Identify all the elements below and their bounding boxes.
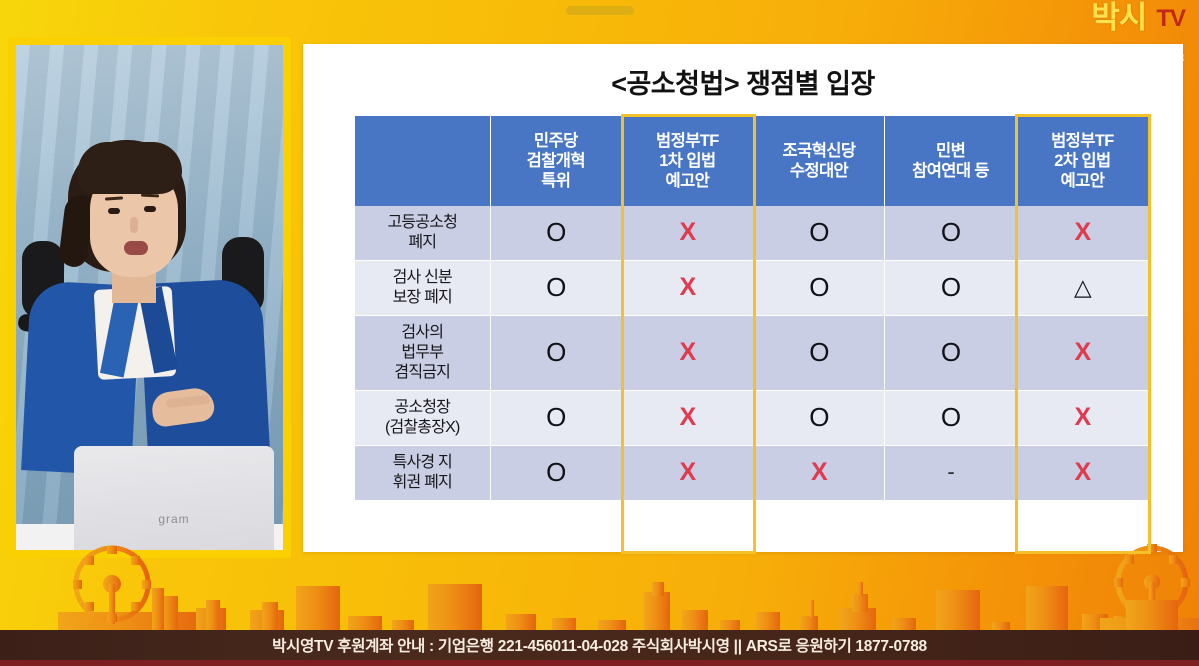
mark-cross-icon: X bbox=[679, 405, 695, 430]
mark-circle-icon: O bbox=[546, 404, 565, 430]
logo-tv-text: TV bbox=[1156, 7, 1185, 31]
table-cell: O bbox=[885, 261, 1017, 316]
video-feed: gram bbox=[16, 45, 283, 550]
table-cell: X bbox=[622, 391, 754, 446]
slide-panel: <공소청법> 쟁점별 입장 민주당검찰개혁특위 범정부TF1차 입법예고안 조국… bbox=[303, 44, 1183, 552]
mark-circle-icon: O bbox=[809, 274, 828, 300]
speaker-mouth bbox=[124, 241, 148, 255]
mark-cross-icon: X bbox=[1075, 405, 1091, 430]
table-row-label: 특사경 지 휘권 폐지 bbox=[355, 446, 490, 501]
table-row-label: 고등공소청 폐지 bbox=[355, 206, 490, 261]
table-row: 고등공소청 폐지OXOOX bbox=[355, 206, 1148, 261]
mark-cross-icon: X bbox=[679, 340, 695, 365]
table-cell: X bbox=[622, 261, 754, 316]
video-frame: gram bbox=[8, 37, 291, 558]
table-header-cell-3: 조국혁신당수정대안 bbox=[753, 116, 885, 206]
table-cell: O bbox=[753, 391, 885, 446]
table-row-label: 검사 신분 보장 폐지 bbox=[355, 261, 490, 316]
mark-cross-icon: X bbox=[1075, 340, 1091, 365]
table-body: 고등공소청 폐지OXOOX검사 신분 보장 폐지OXOO△검사의 법무부 겸직금… bbox=[355, 206, 1148, 501]
laptop: gram bbox=[74, 446, 274, 550]
mark-cross-icon: X bbox=[1075, 220, 1091, 245]
table-row: 공소청장 (검찰총장X)OXOOX bbox=[355, 391, 1148, 446]
table-cell: O bbox=[490, 391, 622, 446]
laptop-brand-label: gram bbox=[74, 512, 274, 526]
mark-circle-icon: O bbox=[809, 339, 828, 365]
table-cell: X bbox=[622, 206, 754, 261]
mark-cross-icon: X bbox=[1075, 460, 1091, 485]
mark-circle-icon: O bbox=[546, 219, 565, 245]
table-header-row: 민주당검찰개혁특위 범정부TF1차 입법예고안 조국혁신당수정대안 민변참여연대… bbox=[355, 116, 1148, 206]
issues-comparison-table: 민주당검찰개혁특위 범정부TF1차 입법예고안 조국혁신당수정대안 민변참여연대… bbox=[355, 116, 1148, 501]
table-cell: X bbox=[753, 446, 885, 501]
table-row-label: 공소청장 (검찰총장X) bbox=[355, 391, 490, 446]
table-cell: X bbox=[1016, 446, 1148, 501]
mark-cross-icon: X bbox=[811, 460, 827, 485]
speaker-eye-left bbox=[108, 208, 120, 214]
table-cell: X bbox=[1016, 206, 1148, 261]
mark-cross-icon: X bbox=[679, 275, 695, 300]
mark-cross-icon: X bbox=[679, 460, 695, 485]
mark-circle-icon: O bbox=[546, 274, 565, 300]
table-cell: X bbox=[622, 446, 754, 501]
table-row: 검사 신분 보장 폐지OXOO△ bbox=[355, 261, 1148, 316]
table-cell: O bbox=[885, 206, 1017, 261]
table-cell: △ bbox=[1016, 261, 1148, 316]
mark-circle-icon: O bbox=[941, 219, 960, 245]
table-cell: X bbox=[622, 316, 754, 391]
mark-cross-icon: X bbox=[679, 220, 695, 245]
table-header-cell-4: 민변참여연대 등 bbox=[885, 116, 1017, 206]
bottom-red-stripe bbox=[0, 660, 1199, 666]
slide-title: <공소청법> 쟁점별 입장 bbox=[303, 62, 1183, 101]
table-cell: - bbox=[885, 446, 1017, 501]
mark-triangle-icon: △ bbox=[1074, 276, 1091, 299]
table-cell: O bbox=[490, 261, 622, 316]
table-row: 검사의 법무부 겸직금지OXOOX bbox=[355, 316, 1148, 391]
table-row: 특사경 지 휘권 폐지OXX-X bbox=[355, 446, 1148, 501]
logo-korean-text: 박시 bbox=[1091, 2, 1146, 33]
table-cell: O bbox=[490, 206, 622, 261]
donation-banner-text: 박시영TV 후원계좌 안내 : 기업은행 221-456011-04-028 주… bbox=[272, 634, 927, 656]
mark-circle-icon: O bbox=[546, 339, 565, 365]
table-header-cell-1: 민주당검찰개혁특위 bbox=[490, 116, 622, 206]
mark-circle-icon: O bbox=[941, 274, 960, 300]
table-cell: O bbox=[885, 391, 1017, 446]
logo-row: 박시 TV bbox=[1091, 2, 1185, 33]
speaker-nose bbox=[130, 217, 138, 233]
table-cell: X bbox=[1016, 316, 1148, 391]
mark-circle-icon: O bbox=[941, 339, 960, 365]
table-cell: O bbox=[753, 206, 885, 261]
table-cell: O bbox=[490, 316, 622, 391]
mark-circle-icon: O bbox=[809, 404, 828, 430]
table-row-label: 검사의 법무부 겸직금지 bbox=[355, 316, 490, 391]
table-header-cell-2: 범정부TF1차 입법예고안 bbox=[622, 116, 754, 206]
mark-circle-icon: O bbox=[941, 404, 960, 430]
table-header-cell-5: 범정부TF2차 입법예고안 bbox=[1016, 116, 1148, 206]
top-indicator-pill bbox=[566, 6, 634, 15]
table-cell: O bbox=[753, 261, 885, 316]
mark-circle-icon: O bbox=[809, 219, 828, 245]
table-cell: O bbox=[490, 446, 622, 501]
mark-dash-icon: - bbox=[947, 461, 954, 483]
mark-circle-icon: O bbox=[546, 459, 565, 485]
city-skyline-decoration bbox=[0, 538, 1199, 630]
table-cell: X bbox=[1016, 391, 1148, 446]
speaker-bangs bbox=[78, 142, 182, 194]
speaker-eye-right bbox=[144, 206, 156, 212]
table-header: 민주당검찰개혁특위 범정부TF1차 입법예고안 조국혁신당수정대안 민변참여연대… bbox=[355, 116, 1148, 206]
table-cell: O bbox=[885, 316, 1017, 391]
donation-banner: 박시영TV 후원계좌 안내 : 기업은행 221-456011-04-028 주… bbox=[0, 630, 1199, 660]
table-header-cell-0 bbox=[355, 116, 490, 206]
table-cell: O bbox=[753, 316, 885, 391]
